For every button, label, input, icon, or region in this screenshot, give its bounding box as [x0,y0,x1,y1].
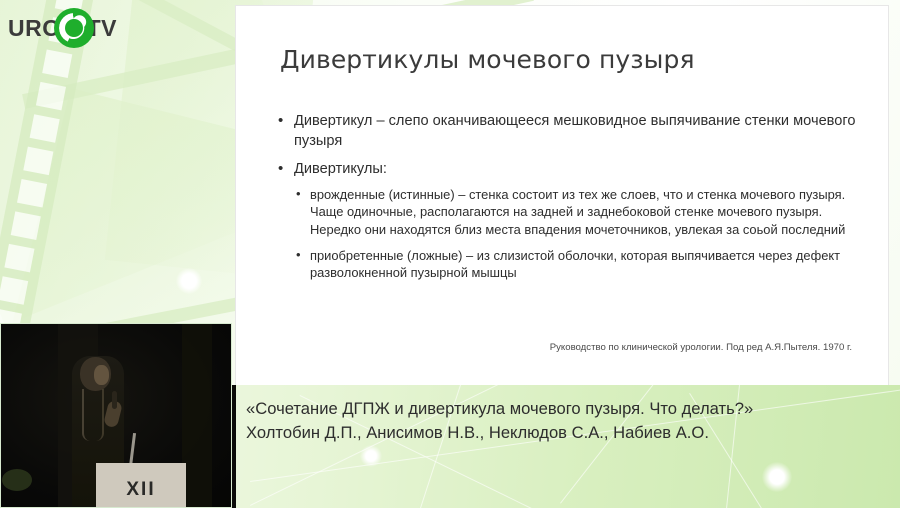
video-frame-border [0,323,232,508]
bullet-text: Дивертикулы: [294,161,387,177]
bullet-item: Дивертикулы: врожденные (истинные) – сте… [276,160,856,282]
caption-line-title: «Сочетание ДГПЖ и дивертикула мочевого п… [246,397,886,421]
caption-line-authors: Холтобин Д.П., Анисимов Н.В., Неклюдов С… [246,421,886,445]
bullet-text: Дивертикул – слепо оканчивающееся мешков… [294,113,856,149]
sub-bullet-item: приобретенные (ложные) – из слизистой об… [294,247,856,282]
decor-node [360,445,382,467]
logo-text-uro: URO [8,17,61,40]
bullet-list-level1: Дивертикул – слепо оканчивающееся мешков… [276,112,856,282]
sub-bullet-text: приобретенные (ложные) – из слизистой об… [310,248,840,281]
urotv-logo[interactable]: URO TV [8,6,117,50]
sub-bullet-text: врожденные (истинные) – стенка состоит и… [310,187,845,237]
decor-node [762,462,792,492]
bullet-item: Дивертикул – слепо оканчивающееся мешков… [276,112,856,151]
slide-body: Дивертикул – слепо оканчивающееся мешков… [276,112,856,291]
slide-title: Дивертикулы мочевого пузыря [280,45,860,74]
bullet-list-level2: врожденные (истинные) – стенка состоит и… [294,186,856,282]
uro-emblem-icon [54,8,94,48]
presentation-viewer: URO TV Дивертикулы мочевого пузыря Дивер… [0,0,900,508]
slide-panel: Дивертикулы мочевого пузыря Дивертикул –… [236,6,888,385]
decor-glow [176,268,202,294]
slide-citation: Руководство по клинической урологии. Под… [550,342,852,353]
speaker-video[interactable]: XII [0,323,232,508]
presentation-caption: «Сочетание ДГПЖ и дивертикула мочевого п… [246,397,886,445]
sub-bullet-item: врожденные (истинные) – стенка состоит и… [294,186,856,239]
